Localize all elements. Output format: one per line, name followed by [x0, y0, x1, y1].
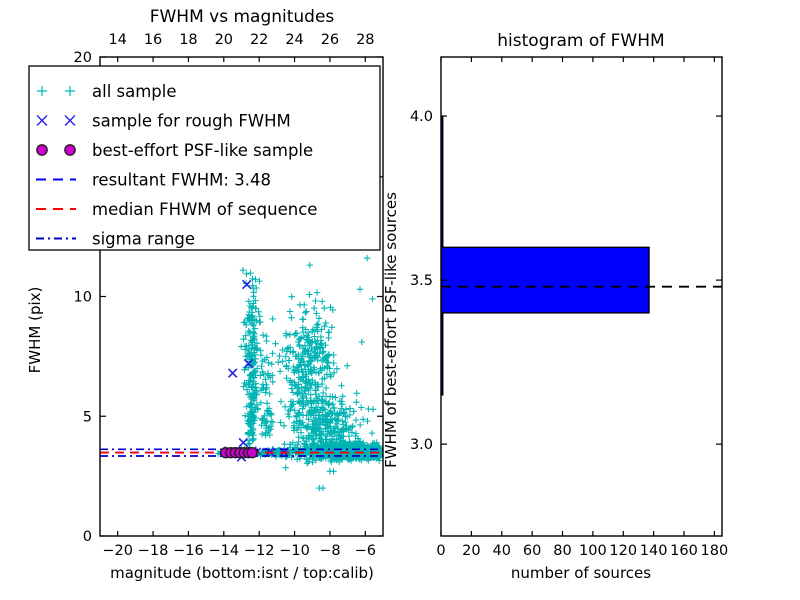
circle-icon — [65, 145, 75, 155]
right-panel-title: histogram of FWHM — [497, 31, 664, 51]
left-xtick-top-label: 14 — [108, 32, 126, 48]
left-ytick-label: 5 — [83, 409, 92, 425]
left-panel-xlabel: magnitude (bottom:isnt / top:calib) — [110, 564, 374, 582]
right-xtick-label: 140 — [640, 543, 668, 559]
right-xtick-label: 40 — [493, 543, 511, 559]
rough-sample-marker — [239, 438, 247, 446]
legend-item-label: sample for rough FWHM — [92, 112, 291, 131]
left-xtick-top-label: 24 — [285, 32, 303, 48]
rough-sample-marker — [243, 280, 251, 288]
right-ytick-label: 3.0 — [410, 437, 433, 453]
histogram-bar — [441, 247, 649, 313]
left-ytick-label: 20 — [74, 50, 92, 66]
right-xtick-label: 120 — [609, 543, 637, 559]
left-ytick-label: 10 — [74, 290, 92, 306]
right-panel: histogram of FWHM 0204060801001201401601… — [382, 31, 728, 582]
right-panel-ylabel: FWHM of best-effort PSF-like sources — [382, 192, 400, 468]
rough-sample-marker — [229, 369, 237, 377]
right-xtick-label: 160 — [670, 543, 698, 559]
left-xtick-label: −18 — [138, 543, 169, 559]
left-xtick-label: −16 — [173, 543, 204, 559]
legend-item-label: resultant FWHM: 3.48 — [92, 171, 271, 190]
left-xtick-label: −12 — [244, 543, 275, 559]
right-xtick-label: 0 — [436, 543, 445, 559]
right-xtick-label: 80 — [553, 543, 571, 559]
left-panel-title: FWHM vs magnitudes — [150, 7, 335, 27]
left-xtick-top-label: 28 — [356, 32, 374, 48]
left-xtick-top-label: 26 — [321, 32, 339, 48]
circle-icon — [37, 145, 47, 155]
histogram-bars — [441, 116, 649, 395]
legend-item-label: sigma range — [92, 230, 195, 249]
psf-sample-marker — [247, 448, 257, 458]
right-xtick-label: 20 — [462, 543, 480, 559]
left-xtick-label: −10 — [279, 543, 310, 559]
right-xtick-label: 100 — [579, 543, 607, 559]
left-xtick-label: −8 — [319, 543, 340, 559]
right-panel-xlabel: number of sources — [511, 564, 651, 582]
left-panel-ylabel: FWHM (pix) — [26, 287, 44, 374]
legend: all samplesample for rough FWHMbest-effo… — [29, 66, 380, 250]
figure-canvas: FWHM vs magnitudes −20−18−16−14−12−10−8−… — [0, 0, 800, 600]
matplotlib-figure: FWHM vs magnitudes −20−18−16−14−12−10−8−… — [0, 0, 800, 600]
legend-item-label: median FHWM of sequence — [92, 200, 317, 219]
left-xtick-top-label: 18 — [179, 32, 197, 48]
right-ytick-label: 4.0 — [410, 109, 433, 125]
right-xtick-label: 60 — [523, 543, 541, 559]
right-xtick-label: 180 — [701, 543, 729, 559]
left-panel-xaxis-top: 1416182022242628 — [108, 32, 374, 48]
legend-item-label: all sample — [92, 82, 177, 101]
left-xtick-top-label: 22 — [250, 32, 268, 48]
left-xtick-label: −6 — [355, 543, 376, 559]
left-xtick-top-label: 16 — [144, 32, 162, 48]
left-xtick-label: −14 — [209, 543, 240, 559]
left-xtick-label: −20 — [102, 543, 133, 559]
left-xtick-top-label: 20 — [215, 32, 233, 48]
right-panel-data-area — [441, 116, 722, 395]
right-ytick-label: 3.5 — [410, 273, 433, 289]
scatter-series-psf-like — [221, 448, 258, 458]
left-ytick-label: 0 — [83, 529, 92, 545]
legend-item-label: best-effort PSF-like sample — [92, 141, 313, 160]
